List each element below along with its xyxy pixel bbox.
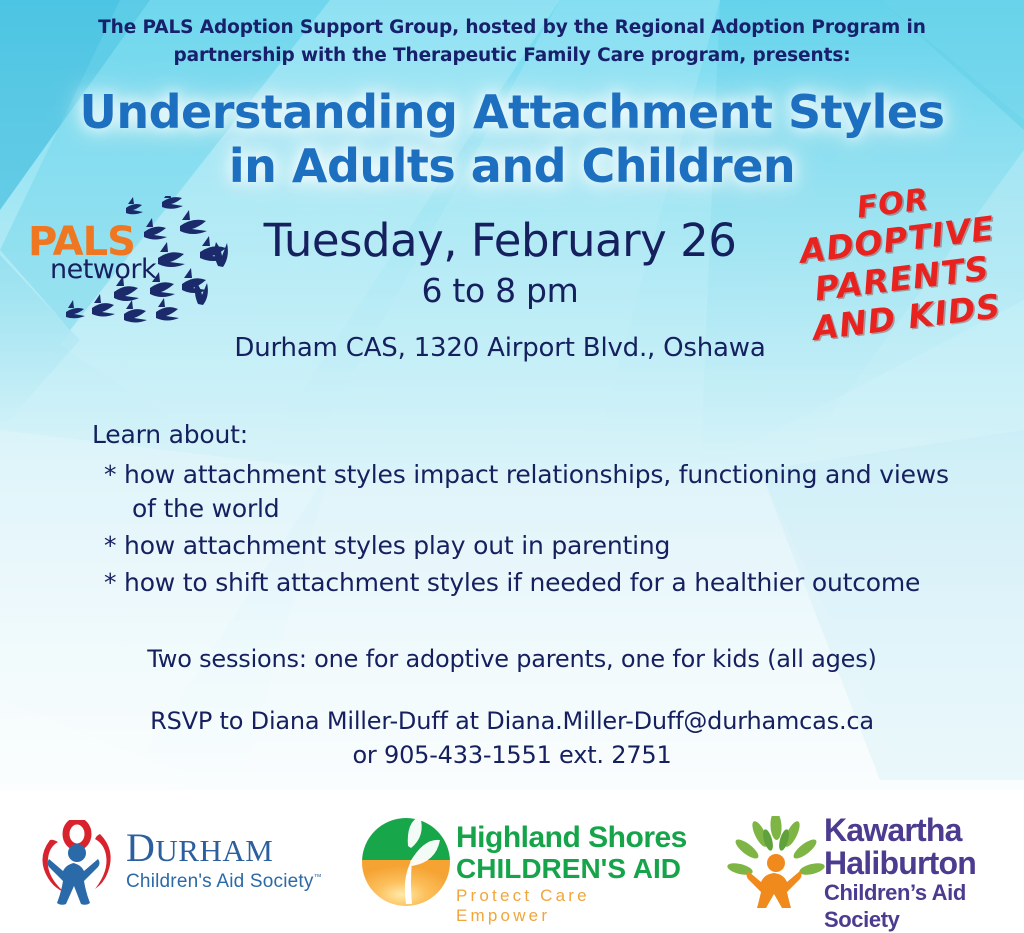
- event-time: 6 to 8 pm: [200, 270, 800, 311]
- highland-shores-logo: Highland Shores CHILDREN'S AID Protect C…: [360, 814, 690, 914]
- kawartha-haliburton-logo: Kawartha Haliburton Children’s Aid Socie…: [726, 812, 1016, 917]
- audience-stamp: FOR ADOPTIVE PARENTS AND KIDS: [782, 173, 1019, 351]
- page-title: Understanding Attachment Styles in Adult…: [0, 86, 1024, 194]
- kawartha-text-block: Kawartha Haliburton Children’s Aid Socie…: [824, 814, 1016, 933]
- kawartha-tree-figure-icon: [726, 816, 826, 908]
- durham-subtitle-text: Children's Aid Society: [126, 871, 314, 892]
- list-item: * how attachment styles play out in pare…: [92, 529, 962, 563]
- highland-line-2: CHILDREN'S AID: [456, 854, 690, 883]
- event-location: Durham CAS, 1320 Airport Blvd., Oshawa: [200, 332, 800, 366]
- durham-wordmark: DURHAM: [126, 828, 322, 868]
- highland-tagline: Protect Care Empower: [456, 886, 690, 926]
- learn-about-lead: Learn about:: [92, 418, 962, 452]
- sponsor-logo-strip: DURHAM Children's Aid Society™: [0, 798, 1024, 933]
- learn-about-section: Learn about: * how attachment styles imp…: [92, 418, 962, 600]
- learn-about-list: * how attachment styles impact relations…: [92, 458, 962, 600]
- rsvp-phone-line: or 905-433-1551 ext. 2751: [0, 738, 1024, 772]
- kawartha-line-3: Children’s Aid Society: [824, 880, 1016, 933]
- highland-text-block: Highland Shores CHILDREN'S AID Protect C…: [456, 822, 690, 926]
- event-date: Tuesday, February 26: [200, 216, 800, 266]
- kawartha-line-2: Haliburton: [824, 847, 1016, 880]
- header-line-2: partnership with the Therapeutic Family …: [0, 42, 1024, 70]
- sessions-note: Two sessions: one for adoptive parents, …: [0, 645, 1024, 673]
- event-details: Tuesday, February 26 6 to 8 pm Durham CA…: [200, 216, 800, 365]
- durham-cas-logo: DURHAM Children's Aid Society™: [34, 816, 334, 911]
- list-item: of the world: [92, 492, 962, 526]
- durham-initial: D: [126, 825, 155, 870]
- list-item: * how to shift attachment styles if need…: [92, 566, 962, 600]
- highland-line-1: Highland Shores: [456, 822, 690, 854]
- pals-subtitle: network: [50, 256, 156, 283]
- title-line-1: Understanding Attachment Styles: [80, 85, 945, 139]
- rsvp-block: RSVP to Diana Miller-Duff at Diana.Mille…: [0, 704, 1024, 772]
- durham-subtitle: Children's Aid Society™: [126, 871, 322, 893]
- durham-trademark: ™: [314, 873, 322, 882]
- kawartha-line-1: Kawartha: [824, 814, 1016, 847]
- poster-header: The PALS Adoption Support Group, hosted …: [0, 14, 1024, 70]
- title-line-2: in Adults and Children: [229, 139, 795, 193]
- durham-text-block: DURHAM Children's Aid Society™: [126, 828, 322, 893]
- durham-name-rest: URHAM: [155, 833, 273, 868]
- rsvp-email-line: RSVP to Diana Miller-Duff at Diana.Mille…: [0, 704, 1024, 738]
- poster-canvas: The PALS Adoption Support Group, hosted …: [0, 0, 1024, 933]
- durham-child-figure-icon: [34, 820, 120, 906]
- highland-shores-leaf-icon: [360, 816, 452, 908]
- list-item: * how attachment styles impact relations…: [92, 458, 962, 492]
- header-line-1: The PALS Adoption Support Group, hosted …: [98, 17, 926, 38]
